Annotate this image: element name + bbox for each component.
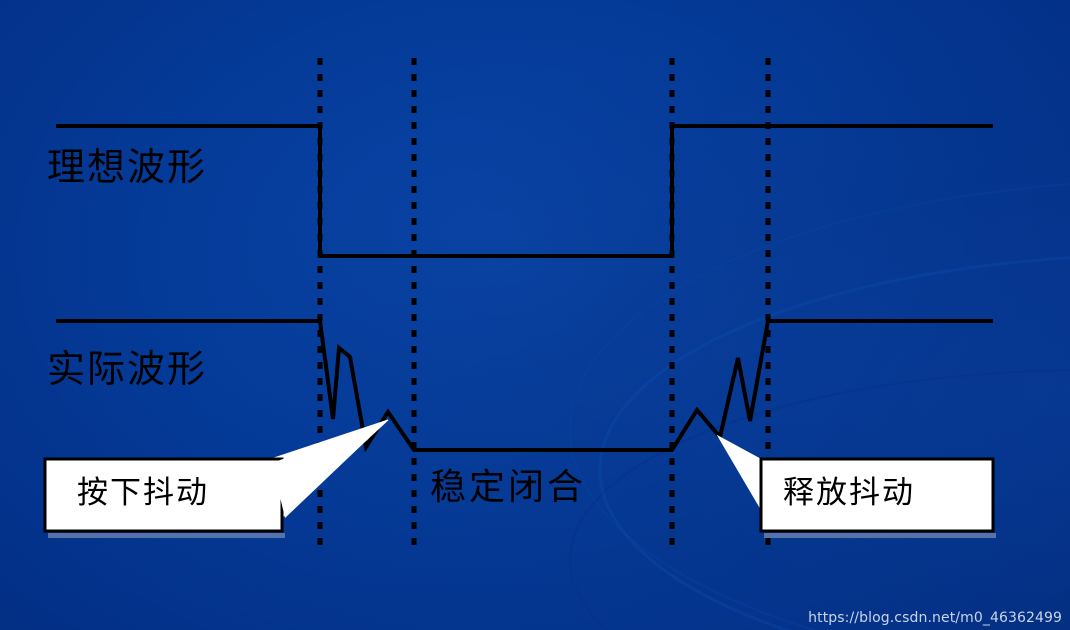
callout-press-tail-fill — [272, 420, 388, 518]
callout-press-bounce-label: 按下抖动 — [77, 478, 209, 509]
stable-closed-label: 稳定闭合 — [430, 470, 586, 506]
actual-waveform-label: 实际波形 — [47, 350, 207, 388]
background-swoosh — [570, 180, 1070, 630]
callout-press-shadow — [48, 533, 285, 538]
callout-release-shadow — [764, 533, 996, 538]
waveform-diagram — [0, 0, 1070, 630]
callout-release-bounce-label: 释放抖动 — [783, 478, 915, 509]
slide-canvas: 理想波形 实际波形 稳定闭合 按下抖动 释放抖动 https://blog.cs… — [0, 0, 1070, 630]
ideal-waveform-label: 理想波形 — [47, 148, 207, 186]
watermark-url: https://blog.csdn.net/m0_46362499 — [808, 610, 1062, 626]
